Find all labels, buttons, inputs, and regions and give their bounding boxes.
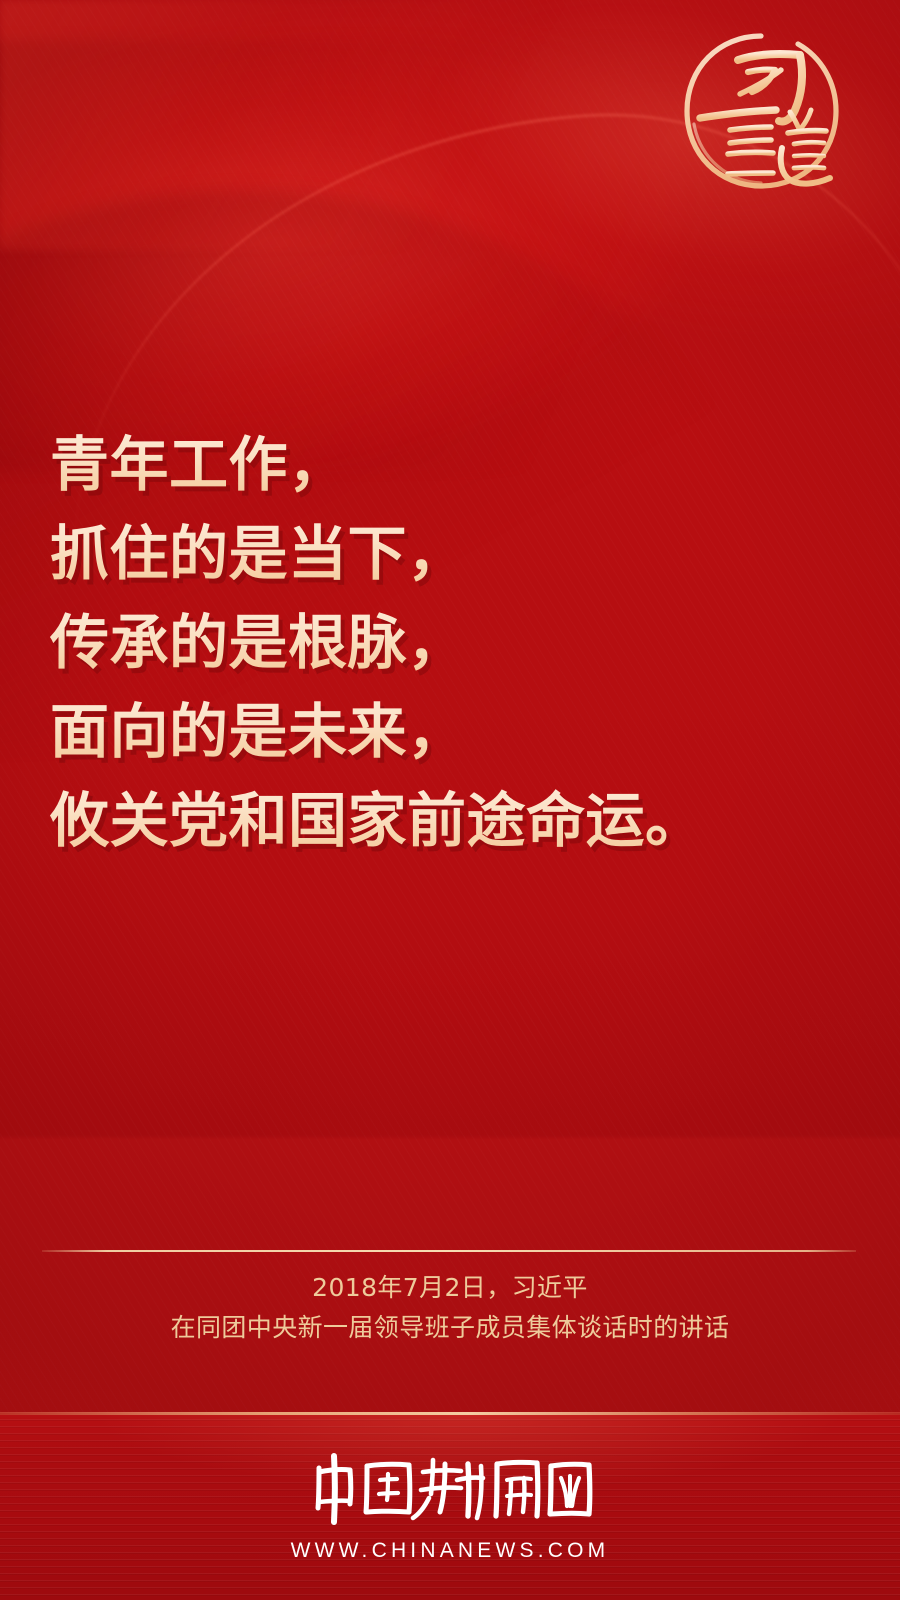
attribution-line-1: 2018年7月2日，习近平 — [0, 1268, 900, 1308]
quote-line-4: 面向的是未来， — [50, 687, 850, 776]
quote-line-3: 传承的是根脉， — [50, 598, 850, 687]
chinanews-wordmark-icon — [0, 1450, 900, 1533]
quote-line-2: 抓住的是当下， — [50, 509, 850, 598]
xi-yan-dao-seal-icon — [678, 28, 844, 194]
news-quote-poster: 青年工作， 抓住的是当下， 传承的是根脉， 面向的是未来， 攸关党和国家前途命运… — [0, 0, 900, 1600]
footer-band: WWW.CHINANEWS.COM — [0, 1412, 900, 1600]
chinanews-brand: WWW.CHINANEWS.COM — [0, 1450, 900, 1563]
attribution-line-2: 在同团中央新一届领导班子成员集体谈话时的讲话 — [0, 1308, 900, 1348]
quote-line-1: 青年工作， — [50, 420, 850, 509]
caption-divider — [42, 1250, 856, 1252]
footer-top-rule — [0, 1412, 900, 1415]
quote-block: 青年工作， 抓住的是当下， 传承的是根脉， 面向的是未来， 攸关党和国家前途命运… — [50, 420, 850, 865]
chinanews-url: WWW.CHINANEWS.COM — [0, 1539, 900, 1563]
attribution-block: 2018年7月2日，习近平 在同团中央新一届领导班子成员集体谈话时的讲话 — [0, 1268, 900, 1348]
quote-line-5: 攸关党和国家前途命运。 — [50, 776, 850, 865]
